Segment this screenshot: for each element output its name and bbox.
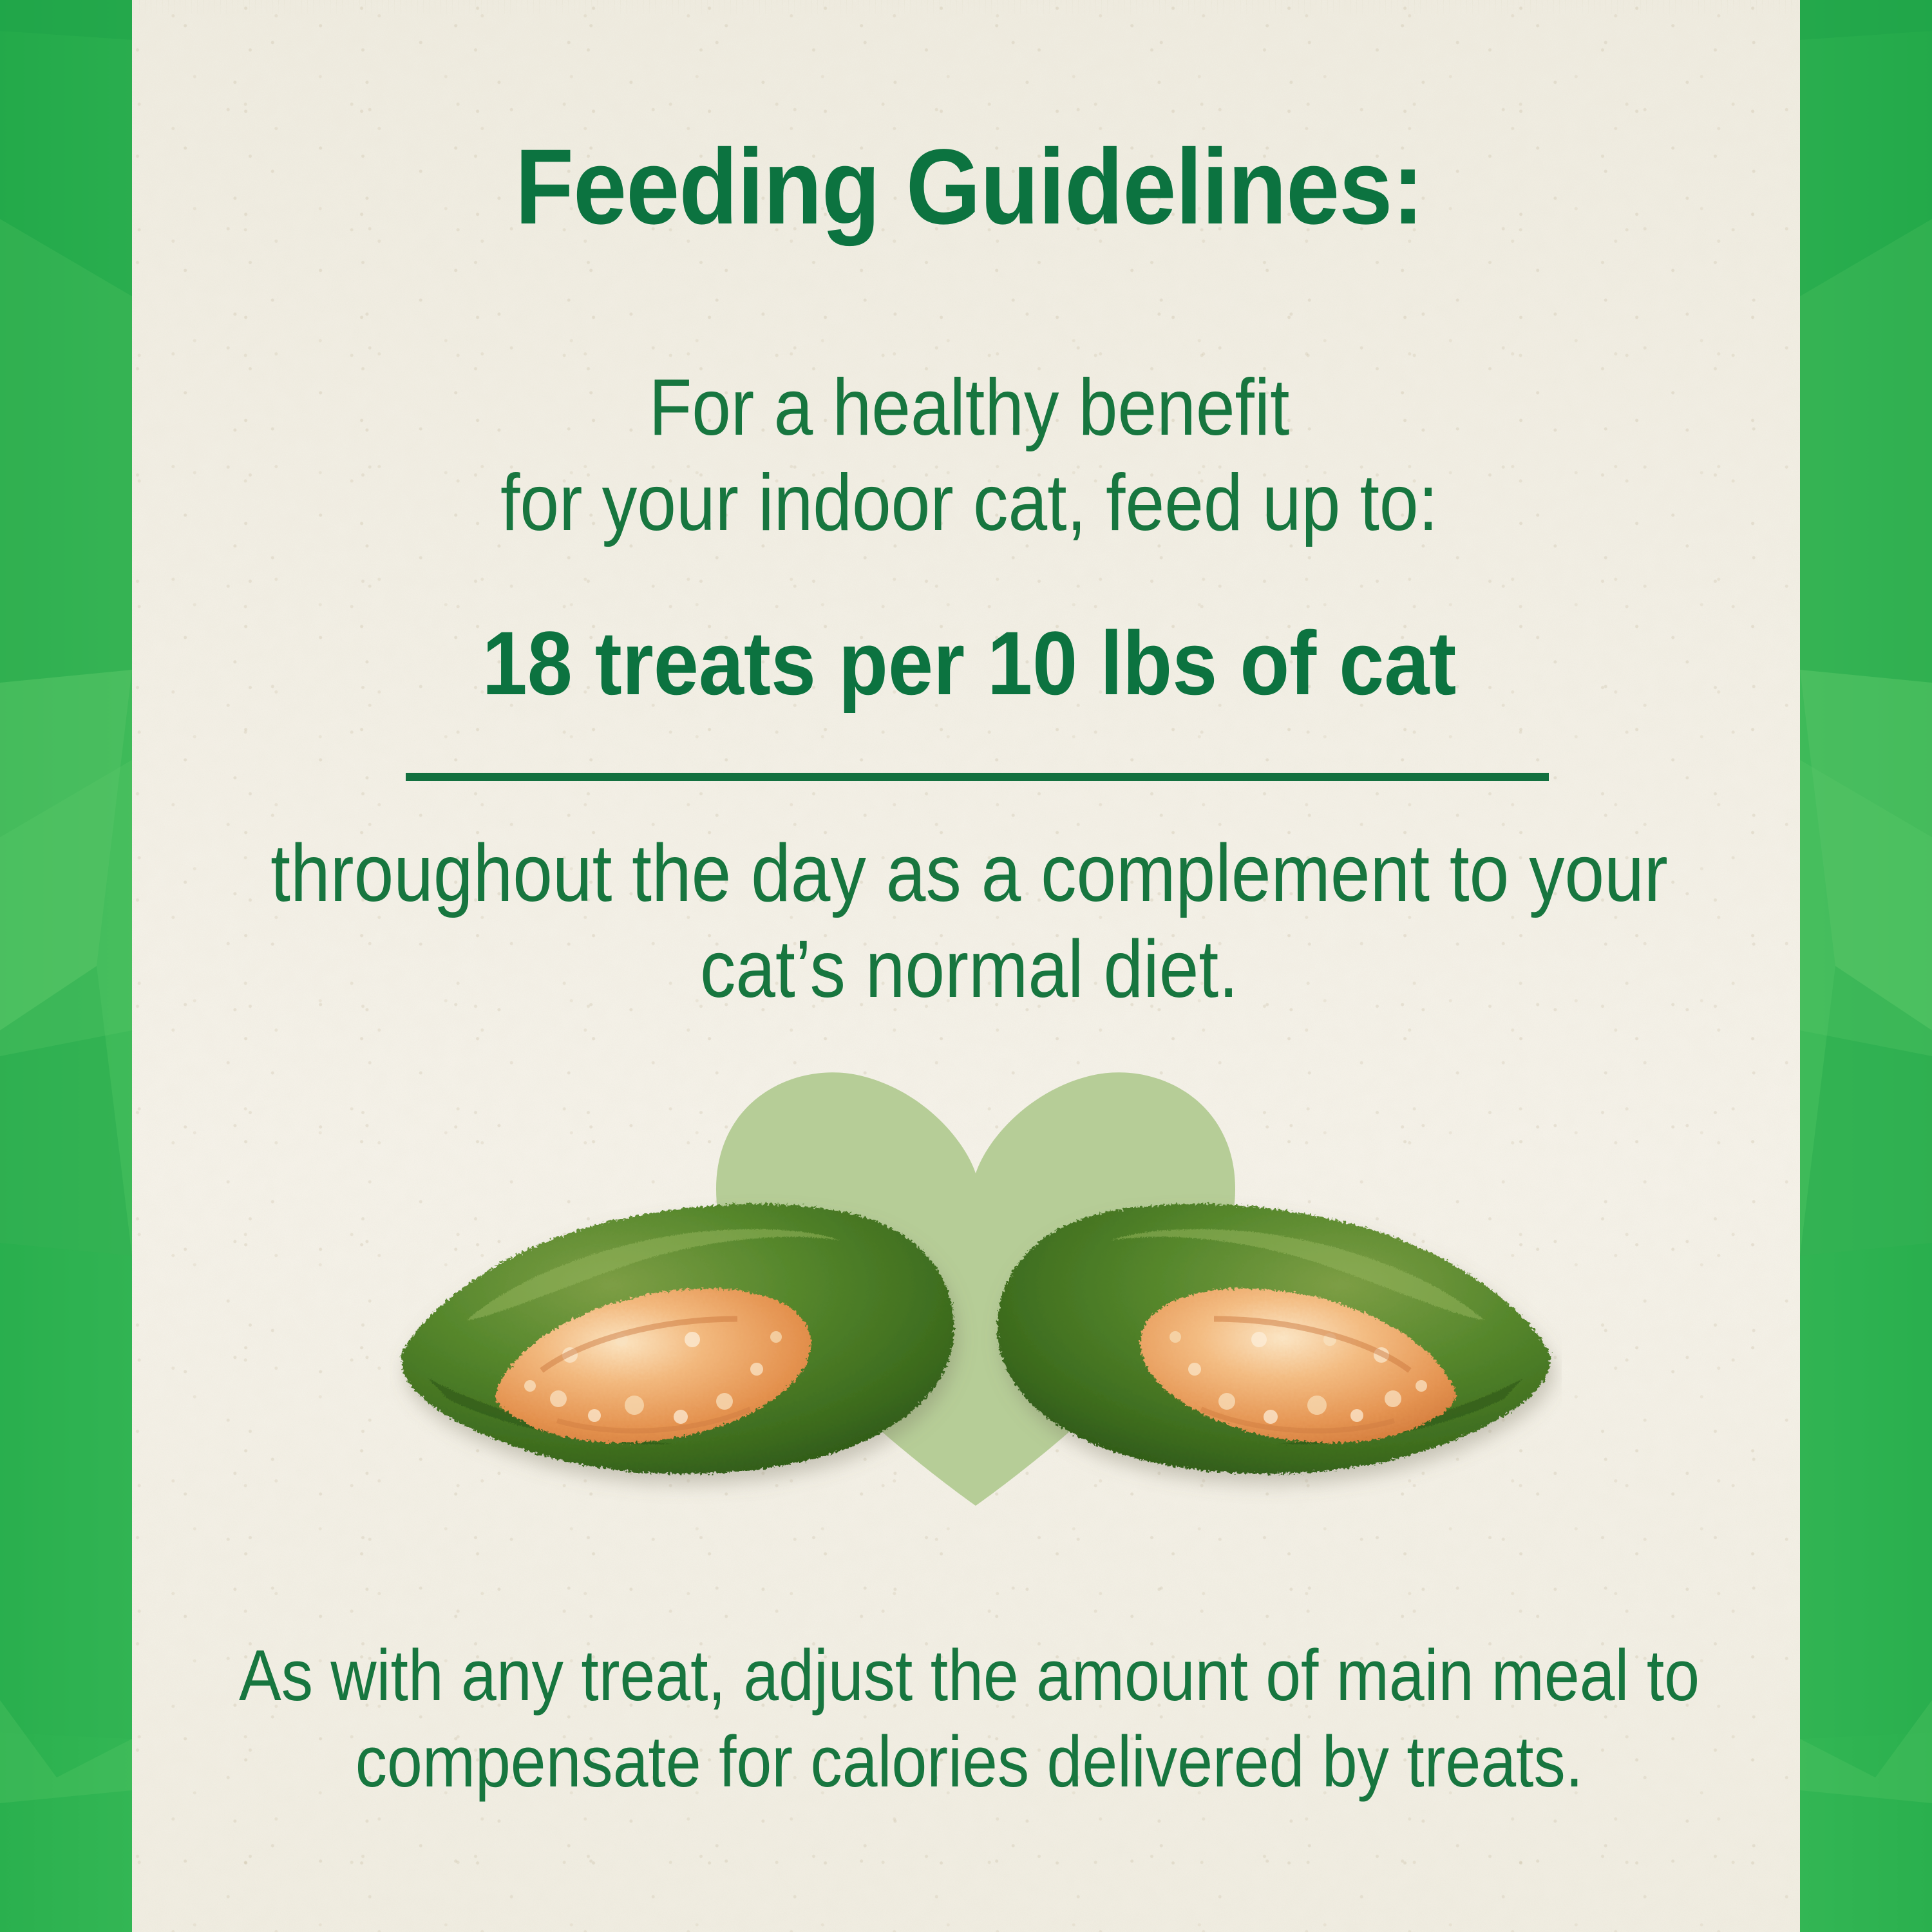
footnote-line-1: As with any treat, adjust the amount of …: [232, 1633, 1706, 1719]
feeding-amount-headline: 18 treats per 10 lbs of cat: [216, 618, 1723, 708]
horizontal-divider: [406, 773, 1549, 781]
right-band-graphic: [1800, 0, 1932, 1932]
left-green-pattern-band: [0, 0, 132, 1932]
right-green-pattern-band: [1800, 0, 1932, 1932]
body-line-2: cat’s normal diet.: [232, 922, 1706, 1018]
footnote-paragraph: As with any treat, adjust the amount of …: [232, 1633, 1706, 1806]
content-column: Feeding Guidelines: For a healthy benefi…: [132, 0, 1806, 1932]
body-line-1: throughout the day as a complement to yo…: [232, 826, 1706, 922]
lead-line-1: For a healthy benefit: [232, 361, 1706, 456]
body-paragraph: throughout the day as a complement to yo…: [232, 826, 1706, 1017]
lead-line-2: for your indoor cat, feed up to:: [232, 456, 1706, 551]
cat-treats-image: [390, 1146, 1562, 1507]
product-imagery: [132, 1063, 1806, 1552]
feeding-guidelines-panel: Feeding Guidelines: For a healthy benefi…: [0, 0, 1932, 1932]
left-band-graphic: [0, 0, 132, 1932]
page-title: Feeding Guidelines:: [216, 134, 1723, 241]
lead-paragraph: For a healthy benefit for your indoor ca…: [232, 361, 1706, 551]
footnote-line-2: compensate for calories delivered by tre…: [232, 1719, 1706, 1805]
treat-right: [998, 1204, 1550, 1473]
treat-left: [401, 1204, 954, 1473]
